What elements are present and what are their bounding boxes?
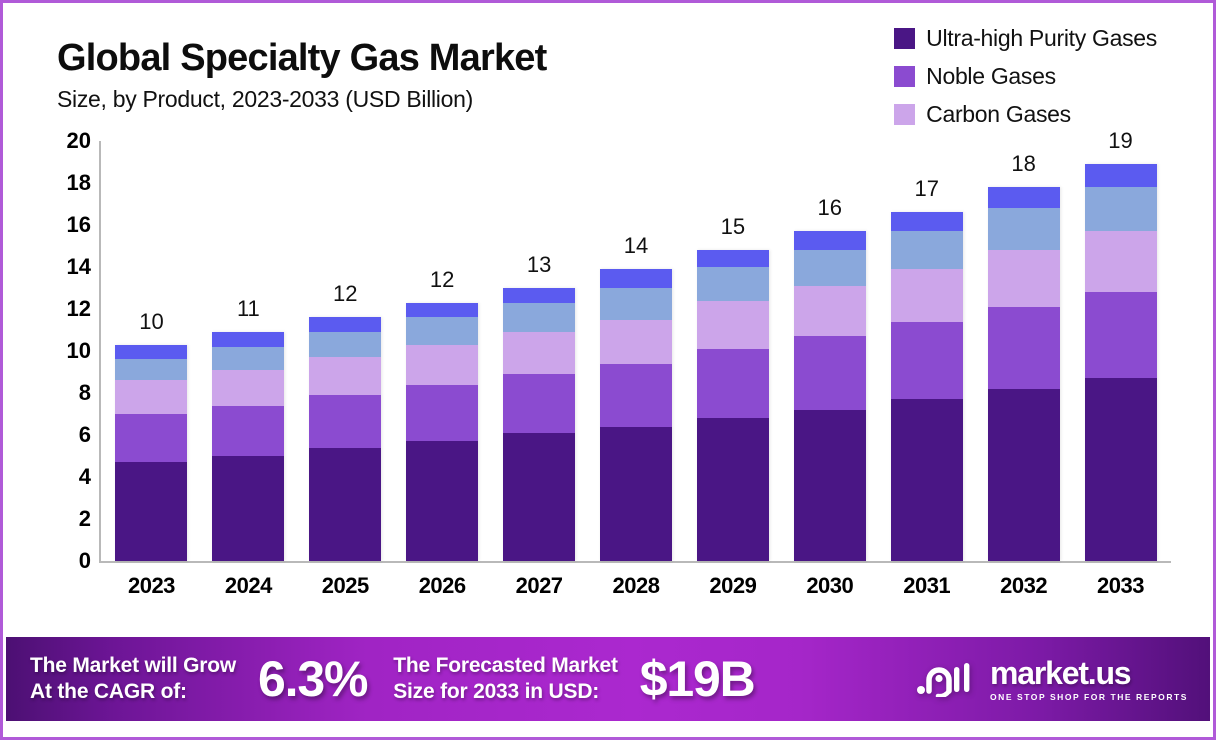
y-axis-tick: 8: [3, 380, 91, 406]
page-title: Global Specialty Gas Market: [57, 39, 547, 77]
y-axis-tick: 2: [3, 506, 91, 532]
bar-segment[interactable]: [406, 441, 478, 561]
x-axis-tick: 2031: [883, 573, 971, 599]
bar-segment[interactable]: [794, 231, 866, 250]
infographic-frame: Global Specialty Gas Market Size, by Pro…: [0, 0, 1216, 740]
bar-column[interactable]: 18: [980, 133, 1068, 561]
y-axis-tick: 14: [3, 254, 91, 280]
bar-segment[interactable]: [697, 301, 769, 349]
x-axis-tick: 2024: [204, 573, 292, 599]
bar-segment[interactable]: [406, 345, 478, 385]
bar-segment[interactable]: [1085, 378, 1157, 561]
cagr-value: 6.3%: [258, 650, 367, 708]
y-axis-line: [99, 141, 101, 563]
y-axis-tick: 12: [3, 296, 91, 322]
bar-segment[interactable]: [794, 250, 866, 286]
bar-segment[interactable]: [309, 395, 381, 448]
bar-segment[interactable]: [794, 410, 866, 561]
legend-swatch-icon: [894, 104, 915, 125]
legend-swatch-icon: [894, 28, 915, 49]
bar-segment[interactable]: [794, 286, 866, 336]
brand-name: market.us: [990, 657, 1188, 689]
bar-value-label: 10: [107, 309, 195, 335]
bar-segment[interactable]: [212, 332, 284, 347]
stacked-bar[interactable]: [891, 212, 963, 561]
bar-segment[interactable]: [309, 332, 381, 357]
stacked-bar[interactable]: [503, 288, 575, 561]
bar-segment[interactable]: [212, 347, 284, 370]
bar-segment[interactable]: [600, 364, 672, 427]
bar-value-label: 17: [883, 176, 971, 202]
y-axis-tick: 6: [3, 422, 91, 448]
bar-segment[interactable]: [697, 418, 769, 561]
bar-value-label: 16: [786, 195, 874, 221]
bar-segment[interactable]: [115, 414, 187, 462]
cagr-label-line1: The Market will Grow: [30, 653, 236, 679]
bar-segment[interactable]: [406, 303, 478, 318]
bar-value-label: 12: [301, 281, 389, 307]
stacked-bar[interactable]: [1085, 164, 1157, 561]
bar-segment[interactable]: [309, 357, 381, 395]
chart-subtitle: Size, by Product, 2023-2033 (USD Billion…: [57, 86, 547, 113]
bar-column[interactable]: 17: [883, 133, 971, 561]
bar-segment[interactable]: [503, 303, 575, 332]
forecast-label-line2: Size for 2033 in USD:: [393, 679, 618, 705]
y-axis-tick: 20: [3, 128, 91, 154]
x-axis-tick: 2029: [689, 573, 777, 599]
legend-item-label: Carbon Gases: [926, 101, 1071, 128]
bar-segment[interactable]: [988, 208, 1060, 250]
bar-segment[interactable]: [503, 433, 575, 561]
y-axis-tick: 16: [3, 212, 91, 238]
bar-segment[interactable]: [697, 250, 769, 267]
x-axis-tick: 2027: [495, 573, 583, 599]
bar-segment[interactable]: [503, 288, 575, 303]
bar-segment[interactable]: [697, 349, 769, 418]
bar-value-label: 19: [1077, 128, 1165, 154]
bar-segment[interactable]: [988, 389, 1060, 561]
bar-value-label: 15: [689, 214, 777, 240]
cagr-label: The Market will Grow At the CAGR of:: [30, 653, 236, 704]
y-axis-tick: 10: [3, 338, 91, 364]
bar-segment[interactable]: [891, 212, 963, 231]
bar-column[interactable]: 10: [107, 133, 195, 561]
bar-segment[interactable]: [891, 231, 963, 269]
bar-segment[interactable]: [988, 307, 1060, 389]
bar-value-label: 11: [204, 296, 292, 322]
stacked-bar[interactable]: [988, 187, 1060, 561]
bar-value-label: 12: [398, 267, 486, 293]
bar-segment[interactable]: [1085, 164, 1157, 187]
bar-segment[interactable]: [309, 448, 381, 561]
brand-wordmark: market.us ONE STOP SHOP FOR THE REPORTS: [990, 657, 1188, 702]
bar-segment[interactable]: [600, 320, 672, 364]
bar-segment[interactable]: [697, 267, 769, 301]
chart-plot-area: 20181614121086420 1011121213141516171819…: [3, 133, 1216, 623]
bar-column[interactable]: 12: [301, 133, 389, 561]
x-axis-line: [99, 561, 1171, 563]
bar-segment[interactable]: [212, 370, 284, 406]
footer-banner: The Market will Grow At the CAGR of: 6.3…: [6, 637, 1210, 721]
brand-logo[interactable]: market.us ONE STOP SHOP FOR THE REPORTS: [916, 657, 1188, 702]
legend-swatch-icon: [894, 66, 915, 87]
bar-value-label: 13: [495, 252, 583, 278]
x-axis-tick: 2033: [1077, 573, 1165, 599]
bar-column[interactable]: 13: [495, 133, 583, 561]
x-axis-tick: 2026: [398, 573, 486, 599]
legend-item[interactable]: Carbon Gases: [894, 101, 1071, 128]
bar-segment[interactable]: [600, 269, 672, 288]
bar-segment[interactable]: [406, 317, 478, 344]
stacked-bar[interactable]: [406, 303, 478, 561]
bar-segment[interactable]: [115, 345, 187, 360]
x-axis-tick: 2025: [301, 573, 389, 599]
stacked-bar[interactable]: [309, 317, 381, 561]
bar-segment[interactable]: [115, 380, 187, 414]
bar-column[interactable]: 15: [689, 133, 777, 561]
x-axis-tick: 2030: [786, 573, 874, 599]
bar-segment[interactable]: [406, 385, 478, 442]
brand-tagline: ONE STOP SHOP FOR THE REPORTS: [990, 693, 1188, 702]
bar-segment[interactable]: [600, 427, 672, 561]
stacked-bar[interactable]: [115, 345, 187, 561]
y-axis-tick: 0: [3, 548, 91, 574]
x-axis-tick: 2032: [980, 573, 1068, 599]
legend-item[interactable]: Noble Gases: [894, 63, 1056, 90]
forecast-label: The Forecasted Market Size for 2033 in U…: [393, 653, 618, 704]
bar-segment[interactable]: [891, 322, 963, 400]
bar-column[interactable]: 19: [1077, 133, 1165, 561]
bar-group: 1011121213141516171819: [103, 133, 1169, 561]
x-axis-tick: 2023: [107, 573, 195, 599]
bar-value-label: 14: [592, 233, 680, 259]
bar-column[interactable]: 16: [786, 133, 874, 561]
legend-item[interactable]: Ultra-high Purity Gases: [894, 25, 1157, 52]
forecast-label-line1: The Forecasted Market: [393, 653, 618, 679]
bar-segment[interactable]: [1085, 231, 1157, 292]
x-axis-tick: 2028: [592, 573, 680, 599]
cagr-label-line2: At the CAGR of:: [30, 679, 236, 705]
y-axis-tick: 18: [3, 170, 91, 196]
forecast-value: $19B: [640, 650, 755, 708]
market-us-logo-icon: [916, 661, 978, 697]
bar-segment[interactable]: [115, 462, 187, 561]
bar-value-label: 18: [980, 151, 1068, 177]
chart-legend: Ultra-high Purity GasesNoble GasesCarbon…: [894, 25, 1157, 128]
y-axis: 20181614121086420: [3, 133, 91, 563]
stacked-bar[interactable]: [600, 269, 672, 561]
stacked-bar[interactable]: [794, 231, 866, 561]
bar-segment[interactable]: [600, 288, 672, 320]
bar-segment[interactable]: [988, 187, 1060, 208]
y-axis-tick: 4: [3, 464, 91, 490]
stacked-bar[interactable]: [697, 250, 769, 561]
bar-column[interactable]: 11: [204, 133, 292, 561]
bar-segment[interactable]: [212, 456, 284, 561]
title-block: Global Specialty Gas Market Size, by Pro…: [57, 39, 547, 113]
bar-segment[interactable]: [503, 374, 575, 433]
bar-segment[interactable]: [212, 406, 284, 456]
bar-column[interactable]: 14: [592, 133, 680, 561]
bar-segment[interactable]: [503, 332, 575, 374]
x-axis: 2023202420252026202720282029203020312032…: [103, 573, 1169, 599]
bar-segment[interactable]: [891, 399, 963, 561]
legend-item-label: Noble Gases: [926, 63, 1056, 90]
bar-segment[interactable]: [891, 269, 963, 322]
legend-item-label: Ultra-high Purity Gases: [926, 25, 1157, 52]
bar-segment[interactable]: [794, 336, 866, 410]
bar-segment[interactable]: [988, 250, 1060, 307]
bar-column[interactable]: 12: [398, 133, 486, 561]
stacked-bar[interactable]: [212, 332, 284, 561]
bar-segment[interactable]: [1085, 292, 1157, 378]
bar-segment[interactable]: [309, 317, 381, 332]
bar-segment[interactable]: [115, 359, 187, 380]
bar-segment[interactable]: [1085, 187, 1157, 231]
